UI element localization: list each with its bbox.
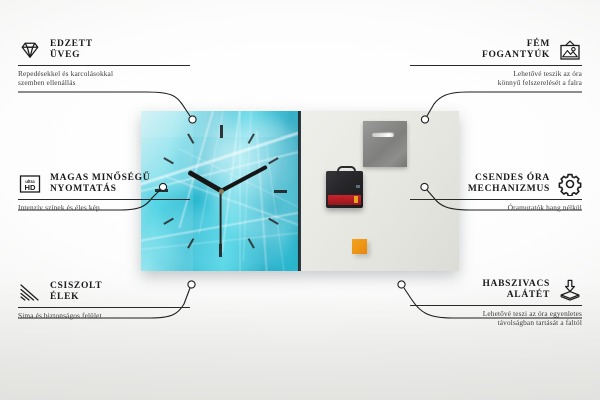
- feature-title: HABSZIVACS ALÁTÉT: [482, 279, 550, 302]
- feature-divider: [410, 65, 582, 66]
- feature-high-quality-print[interactable]: ultra HD MAGAS MINŐSÉGŰ NYOMTATÁS Intenz…: [18, 172, 190, 212]
- feature-metal-handles[interactable]: FÉM FOGANTYÚK Lehetővé teszik az óra kön…: [410, 38, 582, 87]
- feature-title: CSISZOLT ÉLEK: [50, 281, 102, 304]
- feature-tempered-glass[interactable]: EDZETT ÜVEG Repedésekkel és karcolásokka…: [18, 38, 190, 87]
- feature-subtitle: Óramutatók hang nélkül: [410, 203, 582, 212]
- polished-edges-icon: [18, 280, 42, 304]
- diamond-icon: [18, 38, 42, 62]
- infographic-canvas: EDZETT ÜVEG Repedésekkel és karcolásokka…: [0, 0, 600, 400]
- feature-title: FÉM FOGANTYÚK: [482, 39, 550, 62]
- feature-title: MAGAS MINŐSÉGŰ NYOMTATÁS: [50, 173, 150, 196]
- foam-pad-arrow-icon: [558, 278, 582, 302]
- picture-hanger-icon: [558, 38, 582, 62]
- feature-subtitle: Lehetővé teszi az óra egyenletes távolsá…: [410, 309, 582, 327]
- feature-foam-backing[interactable]: HABSZIVACS ALÁTÉT Lehetővé teszi az óra …: [410, 278, 582, 327]
- feature-subtitle: Sima és biztonságos felület: [18, 311, 190, 320]
- feature-silent-mechanism[interactable]: CSENDES ÓRA MECHANIZMUS Óramutatók hang …: [410, 172, 582, 212]
- feature-divider: [410, 199, 582, 200]
- feature-title: CSENDES ÓRA MECHANIZMUS: [468, 173, 550, 196]
- svg-text:HD: HD: [25, 183, 36, 192]
- feature-subtitle: Repedésekkel és karcolásokkal szemben el…: [18, 69, 190, 87]
- feature-polished-edges[interactable]: CSISZOLT ÉLEK Sima és biztonságos felüle…: [18, 280, 190, 320]
- ultra-hd-icon: ultra HD: [18, 172, 42, 196]
- feature-divider: [410, 305, 582, 306]
- feature-title: EDZETT ÜVEG: [50, 39, 93, 62]
- feature-subtitle: Lehetővé teszik az óra könnyű felszerelé…: [410, 69, 582, 87]
- feature-divider: [18, 65, 190, 66]
- gear-icon: [558, 172, 582, 196]
- feature-divider: [18, 199, 190, 200]
- feature-divider: [18, 307, 190, 308]
- feature-subtitle: Intenzív színek és éles kép: [18, 203, 190, 212]
